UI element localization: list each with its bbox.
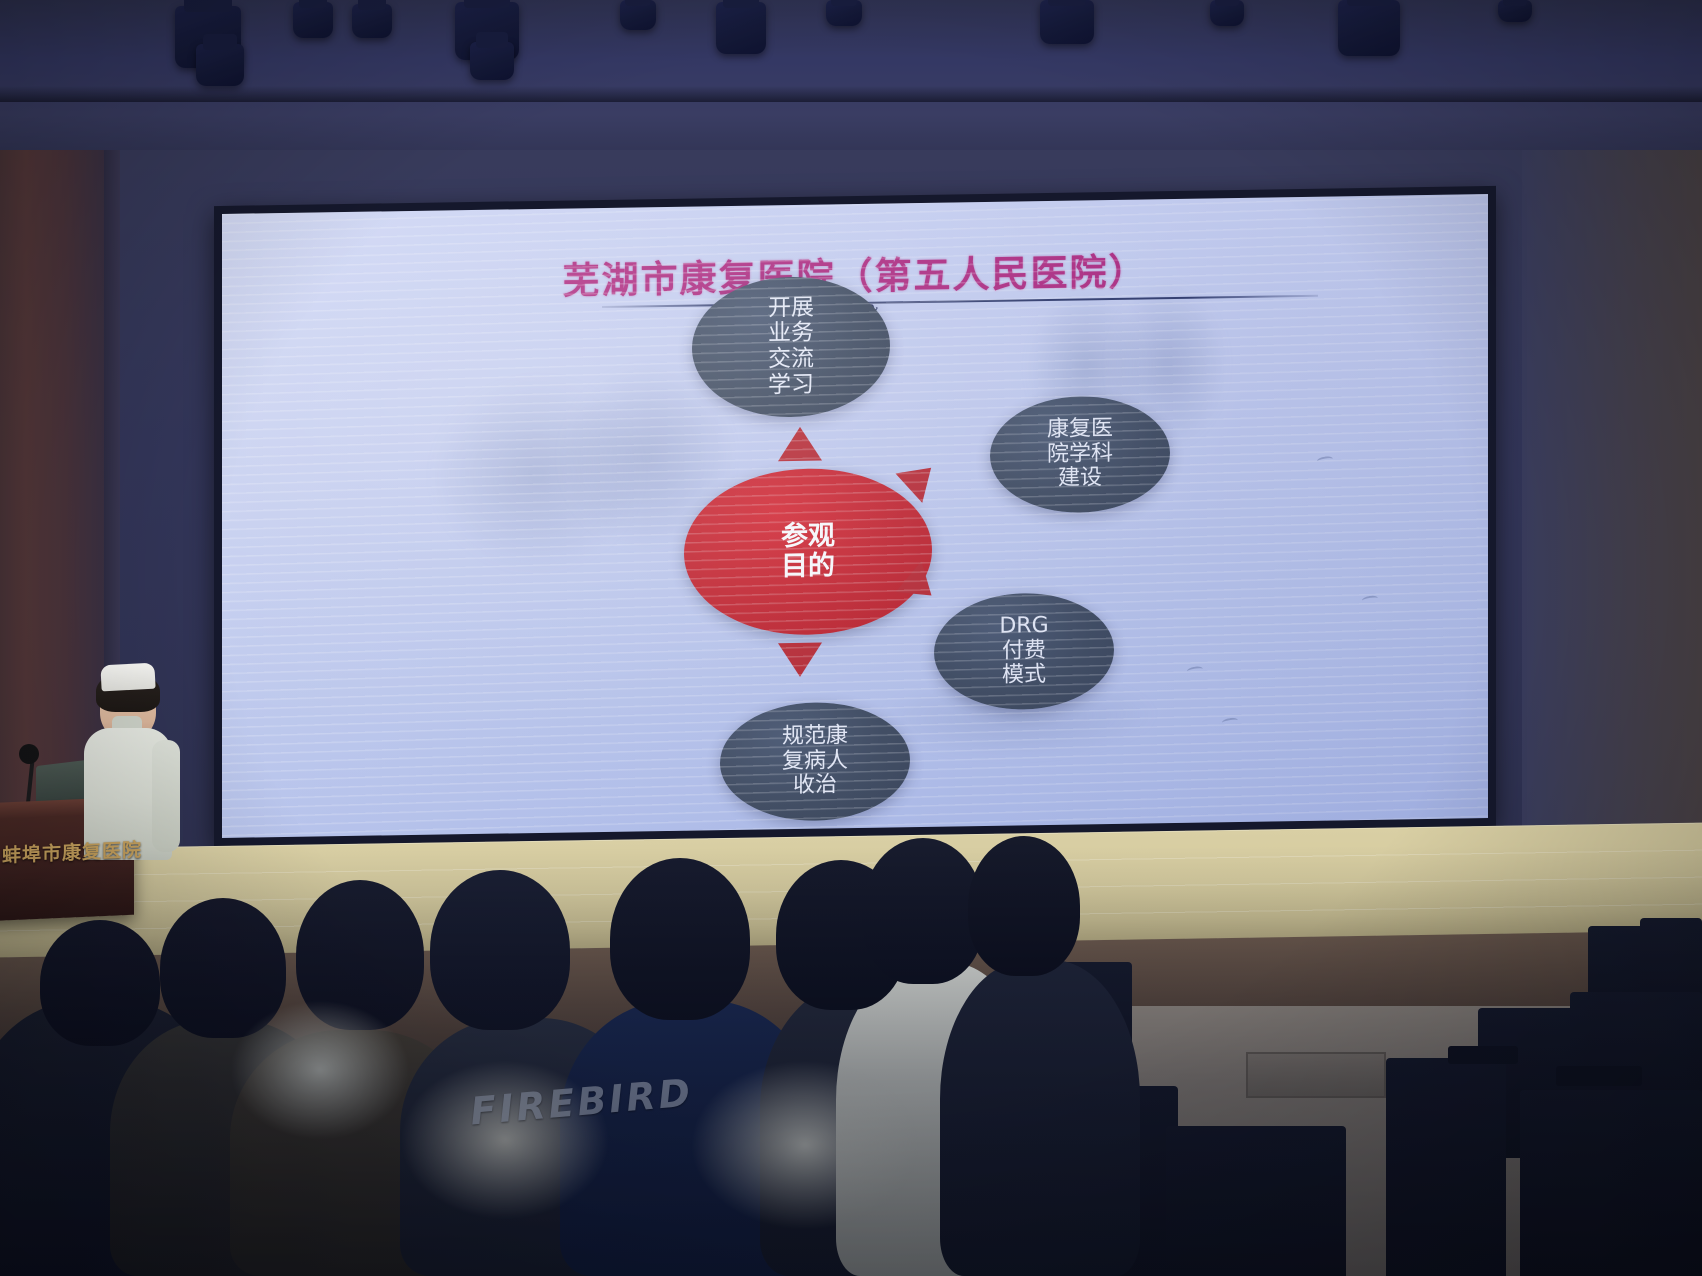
node-line: 规范康 xyxy=(782,724,848,750)
node-line: 建设 xyxy=(1058,466,1102,491)
seat-armrest xyxy=(1448,1046,1518,1064)
stage-light xyxy=(620,0,656,30)
node-line: 业务 xyxy=(768,321,814,347)
auditorium-photo: 芜湖市康复医院（第五人民医院） ❧❦❧ 开展 业务 交流 学习 康复医 院学科 … xyxy=(0,0,1702,1276)
audience-head xyxy=(610,858,750,1020)
stage-light xyxy=(196,44,244,86)
node-standardize-patient-admission[interactable]: 规范康 复病人 收治 xyxy=(720,701,910,822)
node-rehab-hospital-discipline-construction[interactable]: 康复医 院学科 建设 xyxy=(990,395,1170,514)
floor-vent-grate xyxy=(1246,1052,1386,1098)
seat xyxy=(1386,1058,1506,1276)
seat xyxy=(1520,1090,1702,1276)
stage-light xyxy=(352,4,392,38)
audience-head xyxy=(862,838,984,984)
node-line: 交流 xyxy=(768,347,814,373)
stage-light xyxy=(293,2,333,38)
node-line: DRG xyxy=(999,614,1048,639)
stage-light xyxy=(1040,0,1094,44)
right-wall-panel xyxy=(1522,150,1702,895)
audience-head xyxy=(968,836,1080,976)
presentation-slide: 芜湖市康复医院（第五人民医院） ❧❦❧ 开展 业务 交流 学习 康复医 院学科 … xyxy=(222,194,1488,838)
audience-head xyxy=(430,870,570,1030)
node-line: 付费 xyxy=(1002,639,1046,664)
node-visit-purpose[interactable]: 参观 目的 xyxy=(684,467,932,637)
node-line: 复病人 xyxy=(782,749,848,775)
watermark-bird xyxy=(1222,717,1239,726)
lighting-truss xyxy=(0,86,1702,102)
arrow-down-icon xyxy=(778,643,822,678)
stage-light xyxy=(826,0,862,26)
seat xyxy=(1166,1126,1346,1276)
stage-light xyxy=(1498,0,1532,22)
node-open-business-exchange[interactable]: 开展 业务 交流 学习 xyxy=(692,275,890,418)
stage-light xyxy=(1210,0,1244,26)
node-line: 模式 xyxy=(1002,663,1046,688)
fur-collar xyxy=(230,1000,410,1140)
microphone-icon xyxy=(19,744,39,764)
watermark-bird xyxy=(1187,665,1204,674)
watermark-bird xyxy=(1362,595,1379,604)
watermark-bird xyxy=(1317,455,1334,464)
stage-light xyxy=(470,42,514,80)
led-screen-frame: 芜湖市康复医院（第五人民医院） ❧❦❧ 开展 业务 交流 学习 康复医 院学科 … xyxy=(214,186,1496,846)
presenter-arm xyxy=(152,740,180,852)
stage-light xyxy=(716,2,766,54)
arrow-up-icon xyxy=(778,427,822,462)
node-line: 开展 xyxy=(768,295,814,321)
stage-light xyxy=(1338,0,1400,56)
seat-armrest xyxy=(1556,1066,1642,1086)
audience-person xyxy=(940,960,1140,1276)
node-line: 学习 xyxy=(768,372,814,398)
node-line: 康复医 xyxy=(1047,417,1113,443)
audience-head xyxy=(40,920,160,1046)
arrow-right-up-icon xyxy=(895,453,944,503)
fur-collar xyxy=(690,1060,920,1230)
node-line: 参观 xyxy=(781,521,835,552)
nurse-cap-icon xyxy=(100,663,155,692)
node-line: 目的 xyxy=(781,551,835,582)
node-line: 收治 xyxy=(793,774,837,799)
node-line: 院学科 xyxy=(1047,442,1113,468)
